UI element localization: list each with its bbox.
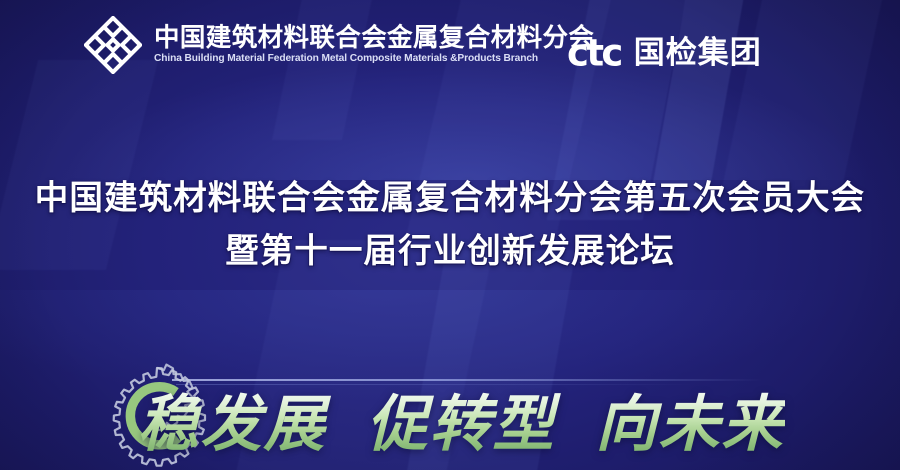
divider-line-secondary (176, 384, 696, 385)
slogan-part-2: 促转型 (366, 392, 555, 456)
ctc-wordmark: ctc (567, 34, 621, 72)
event-title: 中国建筑材料联合会金属复合材料分会第五次会员大会 暨第十一届行业创新发展论坛 (0, 172, 900, 278)
event-title-line-1: 中国建筑材料联合会金属复合材料分会第五次会员大会 (0, 172, 900, 225)
banner-header: 中国建筑材料联合会金属复合材料分会 China Building Materia… (0, 16, 900, 78)
slogan-part-3: 向未来 (596, 392, 785, 456)
conference-banner: 中国建筑材料联合会金属复合材料分会 China Building Materia… (0, 0, 900, 470)
slogan-inner: 稳发展 促转型 向未来 (137, 392, 784, 456)
event-title-line-2: 暨第十一届行业创新发展论坛 (0, 225, 900, 278)
partner-name-cn: 国检集团 (634, 37, 762, 68)
divider-line (172, 379, 762, 381)
partner-lockup: ctc 国检集团 (567, 34, 762, 71)
association-lockup: 中国建筑材料联合会金属复合材料分会 China Building Materia… (84, 16, 594, 74)
association-name-cn: 中国建筑材料联合会金属复合材料分会 (154, 25, 594, 52)
slogan-part-1: 稳发展 (137, 392, 326, 456)
diamond-weave-logo-icon (84, 16, 142, 74)
association-name-en: China Building Material Federation Metal… (154, 53, 594, 64)
association-text: 中国建筑材料联合会金属复合材料分会 China Building Materia… (154, 25, 594, 64)
event-slogan: 稳发展 促转型 向未来 (0, 392, 900, 456)
